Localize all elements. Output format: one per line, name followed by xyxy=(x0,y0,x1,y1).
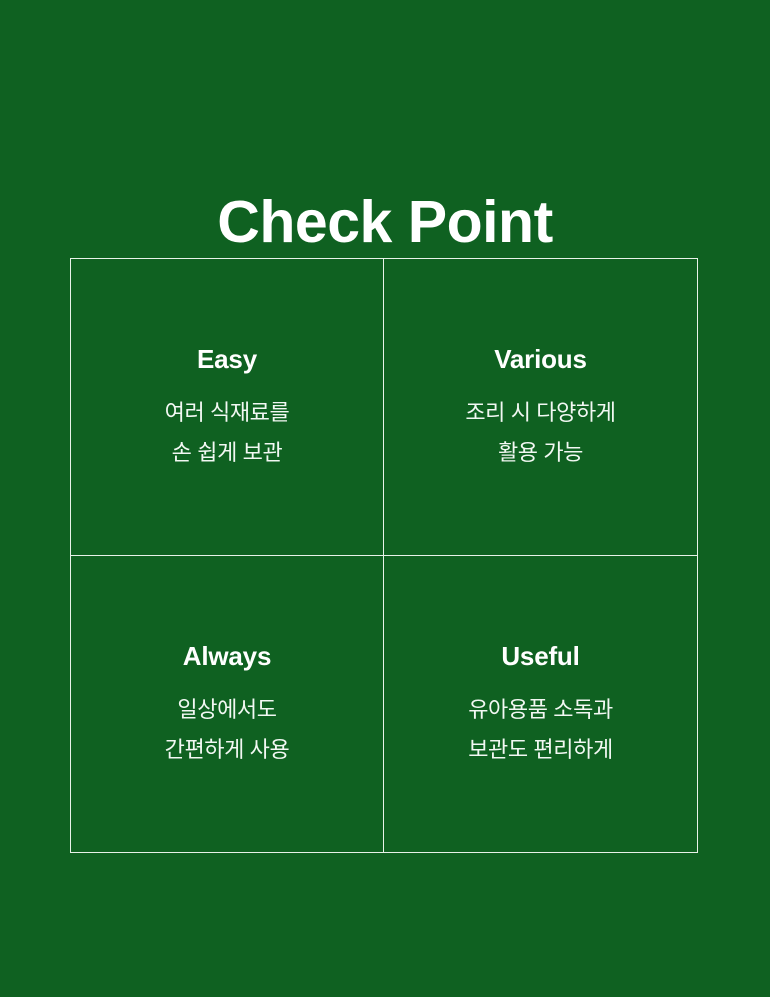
cell-body-line: 보관도 편리하게 xyxy=(468,730,613,770)
cell-heading-easy: Easy xyxy=(197,343,257,375)
page-title: Check Point xyxy=(0,183,770,261)
check-point-grid: Easy 여러 식재료를 손 쉽게 보관 Various 조리 시 다양하게 활… xyxy=(70,258,698,853)
cell-heading-useful: Useful xyxy=(501,640,579,672)
check-point-page: Check Point Easy 여러 식재료를 손 쉽게 보관 Various… xyxy=(0,0,770,997)
cell-body-easy: 여러 식재료를 손 쉽게 보관 xyxy=(165,393,290,473)
check-point-cell-various: Various 조리 시 다양하게 활용 가능 xyxy=(384,259,697,556)
cell-body-line: 유아용품 소독과 xyxy=(468,690,613,730)
cell-body-always: 일상에서도 간편하게 사용 xyxy=(165,690,290,770)
check-point-cell-useful: Useful 유아용품 소독과 보관도 편리하게 xyxy=(384,556,697,853)
cell-body-line: 조리 시 다양하게 xyxy=(465,393,615,433)
cell-body-line: 일상에서도 xyxy=(165,690,290,730)
check-point-cell-always: Always 일상에서도 간편하게 사용 xyxy=(71,556,384,853)
cell-body-line: 간편하게 사용 xyxy=(165,730,290,770)
cell-body-line: 손 쉽게 보관 xyxy=(165,433,290,473)
check-point-cell-easy: Easy 여러 식재료를 손 쉽게 보관 xyxy=(71,259,384,556)
cell-body-line: 활용 가능 xyxy=(465,433,615,473)
cell-body-useful: 유아용품 소독과 보관도 편리하게 xyxy=(468,690,613,770)
cell-body-line: 여러 식재료를 xyxy=(165,393,290,433)
cell-heading-various: Various xyxy=(494,343,587,375)
cell-heading-always: Always xyxy=(183,640,271,672)
cell-body-various: 조리 시 다양하게 활용 가능 xyxy=(465,393,615,473)
